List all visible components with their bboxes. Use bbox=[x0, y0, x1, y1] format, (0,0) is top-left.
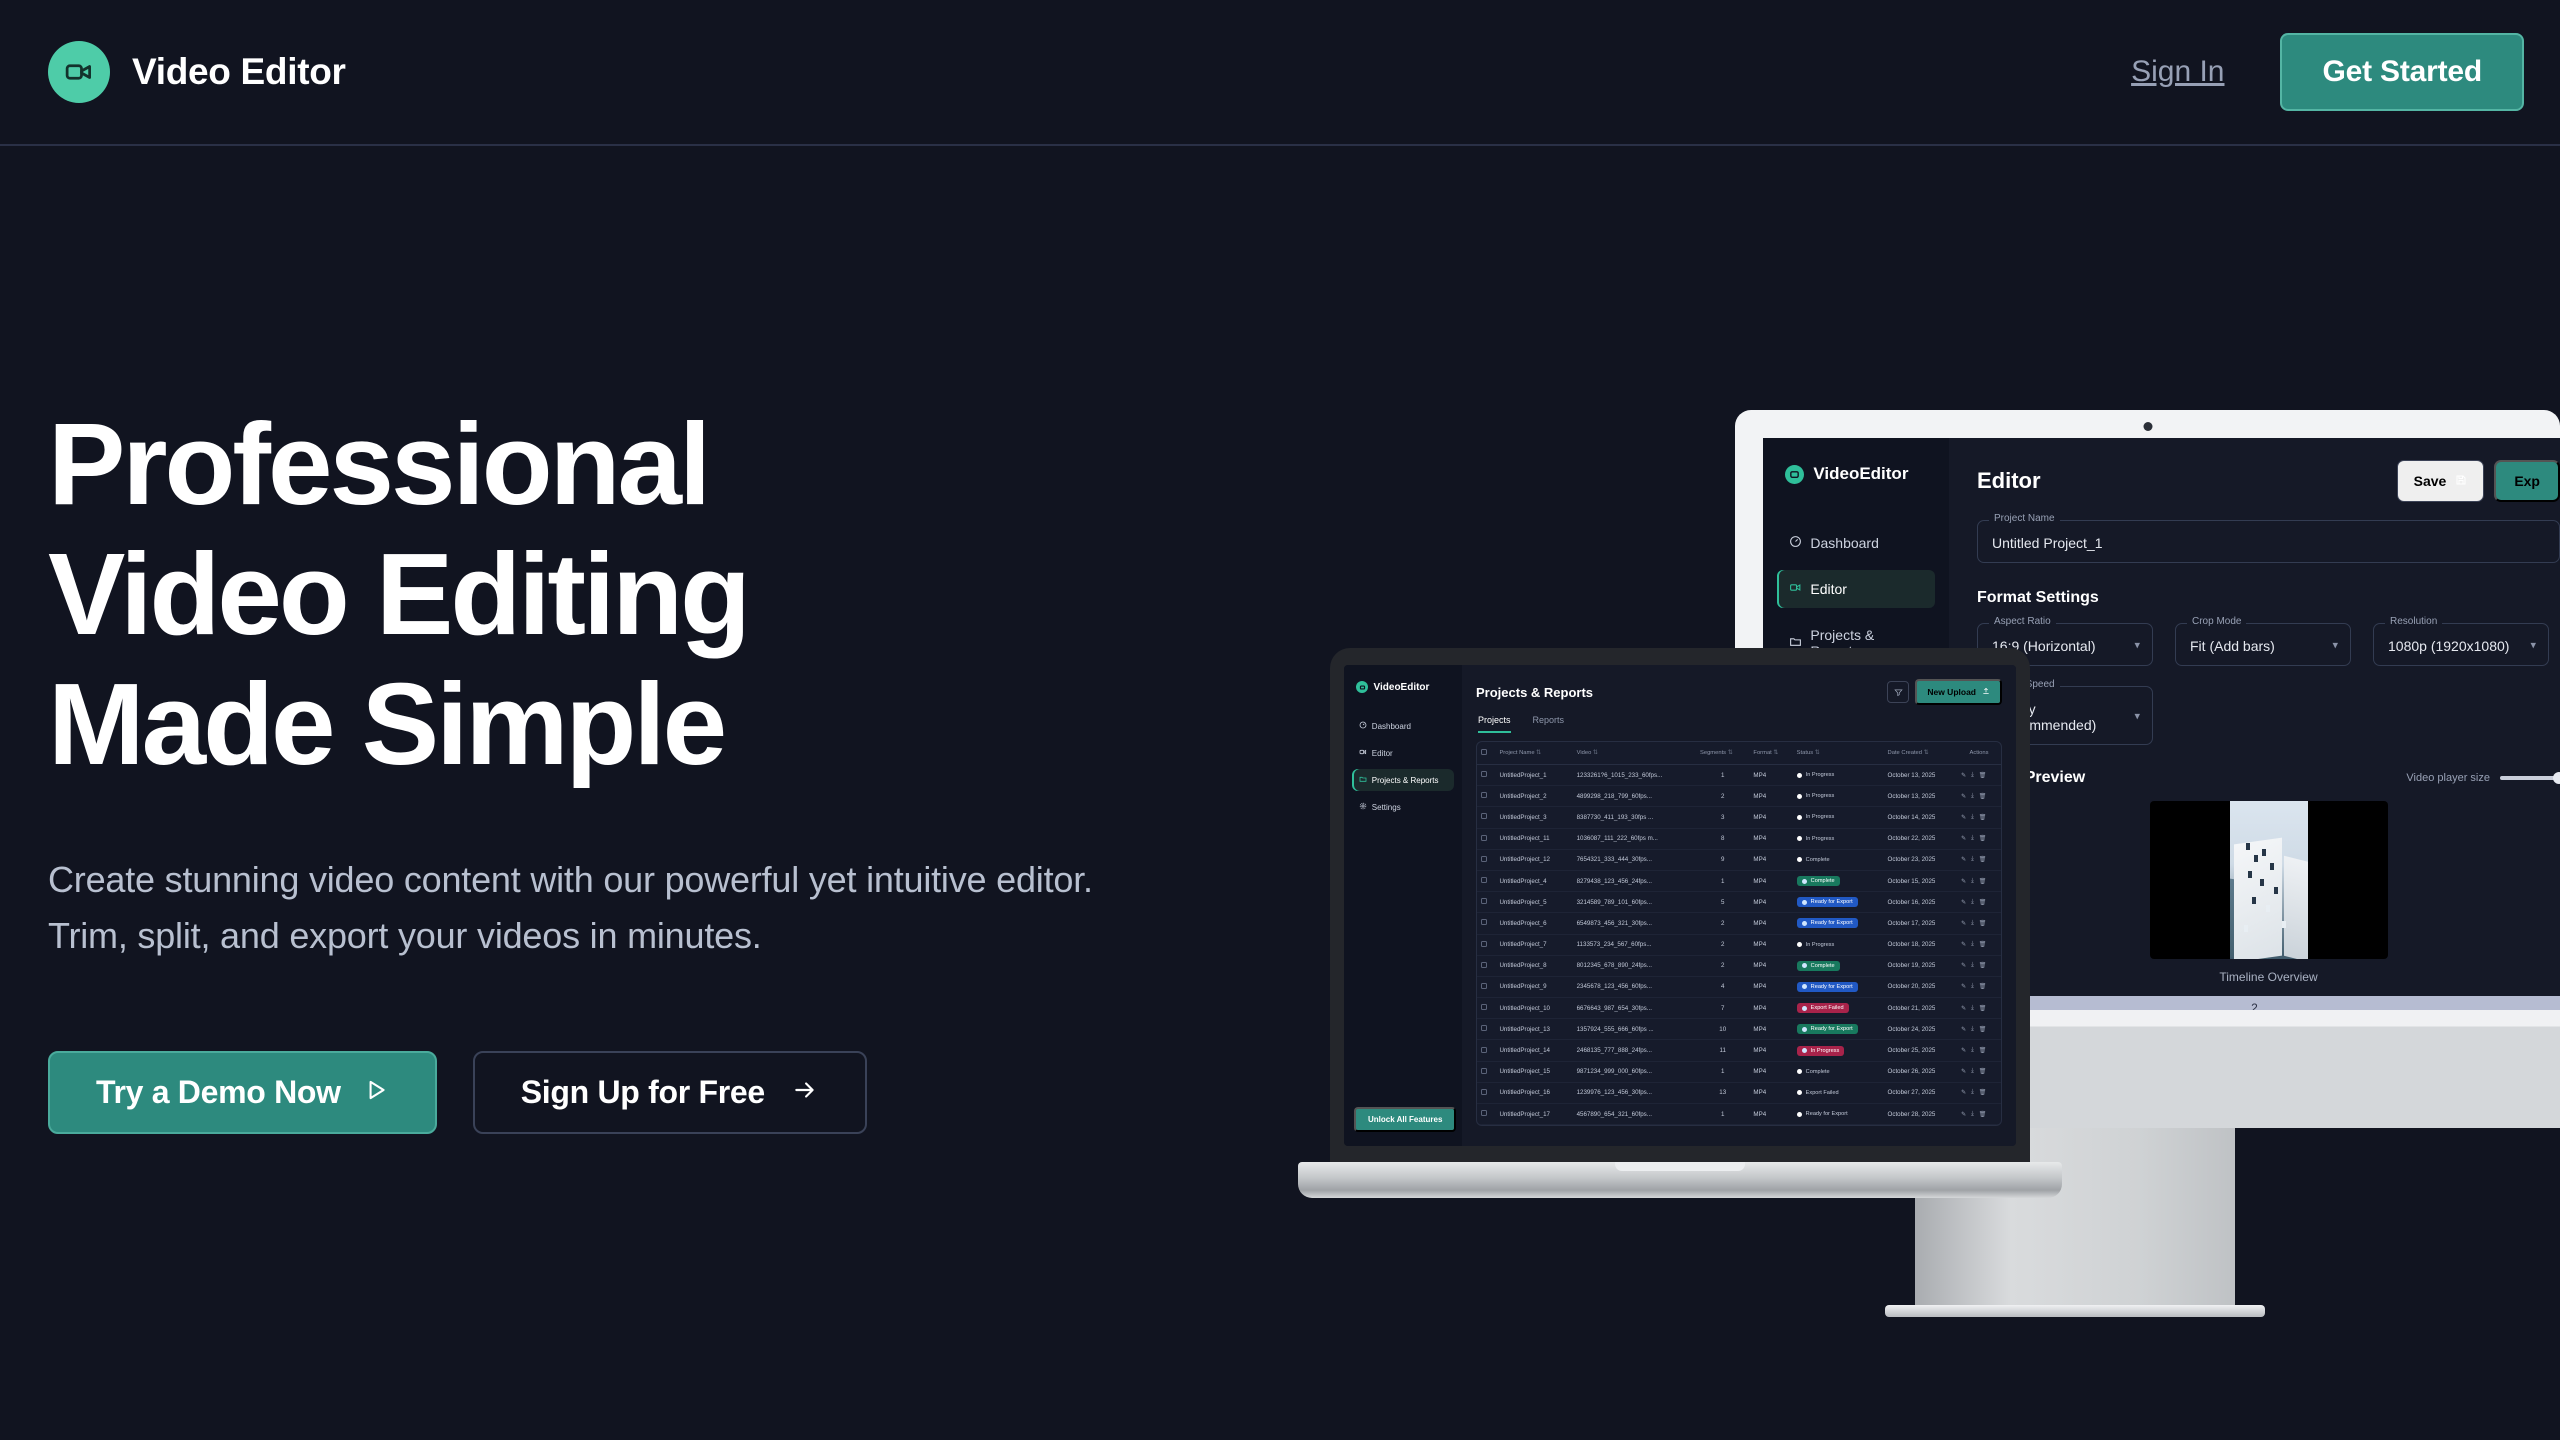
row-checkbox[interactable] bbox=[1481, 877, 1487, 883]
row-checkbox-cell[interactable] bbox=[1477, 786, 1495, 807]
table-row[interactable]: UntitledProject_131357924_555_666_60fps … bbox=[1477, 1019, 2001, 1040]
video-player[interactable] bbox=[2150, 801, 2388, 959]
select-all-checkbox[interactable] bbox=[1481, 749, 1487, 755]
project-name-field[interactable]: Project Name Untitled Project_1 bbox=[1977, 520, 2560, 563]
cell-video: 4899298_218_799_60fps... bbox=[1573, 786, 1696, 807]
delete-icon[interactable]: 🗑 bbox=[1979, 1089, 1987, 1096]
editor-header: Editor Save Exp bbox=[1949, 438, 2560, 502]
cell-video: 1239976_123_456_30fps... bbox=[1573, 1082, 1696, 1103]
cell-actions: ✎⤓🗑 bbox=[1957, 892, 2001, 913]
cell-segments: 8 bbox=[1696, 828, 1749, 849]
hero-cta-group: Try a Demo Now Sign Up for Free bbox=[48, 1051, 1148, 1134]
column-header[interactable]: Date Created ⇅ bbox=[1884, 742, 1958, 765]
resolution-label: Resolution bbox=[2385, 616, 2442, 627]
status-badge: Ready for Export bbox=[1797, 918, 1858, 928]
row-checkbox[interactable] bbox=[1481, 813, 1487, 819]
column-header[interactable]: Segments ⇅ bbox=[1696, 742, 1749, 765]
projects-table-wrapper: Project Name ⇅Video ⇅Segments ⇅Format ⇅S… bbox=[1476, 741, 2002, 1126]
row-checkbox[interactable] bbox=[1481, 771, 1487, 777]
row-checkbox[interactable] bbox=[1481, 835, 1487, 841]
edit-icon[interactable]: ✎ bbox=[1961, 1068, 1966, 1075]
status-badge: In Progress bbox=[1797, 791, 1840, 801]
laptop-screen: VideoEditor Dashboard bbox=[1344, 665, 2016, 1146]
row-checkbox[interactable] bbox=[1481, 1110, 1487, 1116]
cell-actions: ✎⤓🗑 bbox=[1957, 913, 2001, 934]
row-checkbox[interactable] bbox=[1481, 792, 1487, 798]
sidebar-item-dashboard[interactable]: Dashboard bbox=[1777, 524, 1935, 562]
delete-icon[interactable]: 🗑 bbox=[1979, 1068, 1987, 1075]
cell-format: MP4 bbox=[1749, 955, 1792, 976]
hero-title-line-2: Video Editing bbox=[48, 529, 748, 659]
cell-project-name: UntitledProject_4 bbox=[1495, 870, 1572, 891]
table-row[interactable]: UntitledProject_53214589_789_101_60fps..… bbox=[1477, 892, 2001, 913]
video-camera-icon bbox=[48, 41, 110, 103]
cell-segments: 4 bbox=[1696, 976, 1749, 997]
app-logo-text: VideoEditor bbox=[1813, 464, 1908, 484]
download-icon[interactable]: ⤓ bbox=[1971, 1005, 1974, 1012]
row-checkbox[interactable] bbox=[1481, 1068, 1487, 1074]
cell-project-name: UntitledProject_11 bbox=[1495, 828, 1572, 849]
cell-status: In Progress bbox=[1793, 765, 1884, 786]
cell-format: MP4 bbox=[1749, 1082, 1792, 1103]
download-icon[interactable]: ⤓ bbox=[1971, 941, 1974, 948]
sign-up-free-button[interactable]: Sign Up for Free bbox=[473, 1051, 867, 1134]
row-checkbox-cell[interactable] bbox=[1477, 1082, 1495, 1103]
site-header: Video Editor Sign In Get Started bbox=[0, 0, 2560, 146]
cell-segments: 5 bbox=[1696, 892, 1749, 913]
cell-actions: ✎⤓🗑 bbox=[1957, 955, 2001, 976]
download-icon[interactable]: ⤓ bbox=[1971, 1047, 1974, 1054]
cell-video: 1133573_234_567_60fps... bbox=[1573, 934, 1696, 955]
cell-project-name: UntitledProject_15 bbox=[1495, 1061, 1572, 1082]
cell-date-created: October 13, 2025 bbox=[1884, 765, 1958, 786]
delete-icon[interactable]: 🗑 bbox=[1979, 793, 1987, 800]
cell-actions: ✎⤓🗑 bbox=[1957, 828, 2001, 849]
row-checkbox-cell[interactable] bbox=[1477, 998, 1495, 1019]
product-mockups: VideoEditor Dashboard Editor bbox=[1330, 380, 2560, 1240]
webcam-icon bbox=[2143, 422, 2152, 431]
edit-icon[interactable]: ✎ bbox=[1961, 793, 1966, 800]
cell-project-name: UntitledProject_9 bbox=[1495, 976, 1572, 997]
sidebar-item-label: Settings bbox=[1372, 803, 1401, 812]
app-logo[interactable]: VideoEditor bbox=[1785, 464, 1949, 484]
edit-icon[interactable]: ✎ bbox=[1961, 835, 1966, 842]
row-checkbox[interactable] bbox=[1481, 1004, 1487, 1010]
row-checkbox[interactable] bbox=[1481, 1089, 1487, 1095]
cell-format: MP4 bbox=[1749, 976, 1792, 997]
row-checkbox-cell[interactable] bbox=[1477, 807, 1495, 828]
cell-video: 6676643_987_654_30fps... bbox=[1573, 998, 1696, 1019]
cell-video: 1036087_111_222_60fps m... bbox=[1573, 828, 1696, 849]
sort-icon[interactable]: ⇅ bbox=[1728, 750, 1733, 756]
row-checkbox-cell[interactable] bbox=[1477, 765, 1495, 786]
cell-project-name: UntitledProject_5 bbox=[1495, 892, 1572, 913]
delete-icon[interactable]: 🗑 bbox=[1979, 814, 1987, 821]
tab-projects[interactable]: Projects bbox=[1478, 715, 1511, 733]
get-started-button[interactable]: Get Started bbox=[2280, 33, 2524, 111]
cell-format: MP4 bbox=[1749, 828, 1792, 849]
table-row[interactable]: UntitledProject_38387730_411_193_30fps .… bbox=[1477, 807, 2001, 828]
try-demo-button[interactable]: Try a Demo Now bbox=[48, 1051, 437, 1134]
delete-icon[interactable]: 🗑 bbox=[1979, 899, 1987, 906]
cell-actions: ✎⤓🗑 bbox=[1957, 1040, 2001, 1061]
hero-subtitle: Create stunning video content with our p… bbox=[48, 852, 1108, 964]
app-logo[interactable]: VideoEditor bbox=[1356, 681, 1462, 693]
header-actions: Sign In Get Started bbox=[2131, 33, 2524, 111]
project-name-value: Untitled Project_1 bbox=[1992, 535, 2103, 551]
cell-format: MP4 bbox=[1749, 870, 1792, 891]
cell-project-name: UntitledProject_8 bbox=[1495, 955, 1572, 976]
video-camera-icon bbox=[1785, 465, 1804, 484]
sidebar-item-label: Editor bbox=[1810, 581, 1847, 597]
cell-project-name: UntitledProject_16 bbox=[1495, 1082, 1572, 1103]
cell-status: Ready for Export bbox=[1793, 1019, 1884, 1040]
download-icon[interactable]: ⤓ bbox=[1971, 983, 1974, 990]
cell-actions: ✎⤓🗑 bbox=[1957, 870, 2001, 891]
sidebar-item-editor[interactable]: Editor bbox=[1352, 742, 1454, 764]
cell-video: 8012345_678_890_24fps... bbox=[1573, 955, 1696, 976]
filter-icon[interactable] bbox=[1887, 681, 1909, 703]
cell-video: 6549873_456_321_30fps... bbox=[1573, 913, 1696, 934]
cell-status: Complete bbox=[1793, 955, 1884, 976]
status-badge: Complete bbox=[1797, 876, 1840, 886]
download-icon[interactable]: ⤓ bbox=[1971, 1068, 1974, 1075]
delete-icon[interactable]: 🗑 bbox=[1979, 941, 1987, 948]
sidebar-item-projects-reports[interactable]: Projects & Reports bbox=[1352, 769, 1454, 791]
table-row[interactable]: UntitledProject_106676643_987_654_30fps.… bbox=[1477, 998, 2001, 1019]
delete-icon[interactable]: 🗑 bbox=[1979, 962, 1987, 969]
video-preview-area: Timeline Overview bbox=[1977, 801, 2560, 984]
sort-icon[interactable]: ⇅ bbox=[1815, 750, 1820, 756]
editor-header-actions: Save Exp bbox=[2397, 460, 2560, 502]
gauge-icon bbox=[1789, 535, 1802, 551]
cell-actions: ✎⤓🗑 bbox=[1957, 976, 2001, 997]
cell-segments: 1 bbox=[1696, 1104, 1749, 1125]
laptop-mockup: VideoEditor Dashboard bbox=[1330, 648, 2030, 1168]
format-settings-title: Format Settings bbox=[1977, 589, 2560, 607]
cell-video: 1233261?6_1015_233_60fps... bbox=[1573, 765, 1696, 786]
edit-icon[interactable]: ✎ bbox=[1961, 814, 1966, 821]
cell-segments: 1 bbox=[1696, 765, 1749, 786]
projects-header: Projects & Reports New Upload bbox=[1462, 665, 2016, 705]
delete-icon[interactable]: 🗑 bbox=[1979, 983, 1987, 990]
cell-date-created: October 13, 2025 bbox=[1884, 786, 1958, 807]
resolution-value: 1080p (1920x1080) bbox=[2388, 638, 2509, 654]
cell-status: In Progress bbox=[1793, 828, 1884, 849]
edit-icon[interactable]: ✎ bbox=[1961, 941, 1966, 948]
cell-format: MP4 bbox=[1749, 892, 1792, 913]
table-row[interactable]: UntitledProject_111036087_111_222_60fps … bbox=[1477, 828, 2001, 849]
cell-status: In Progress bbox=[1793, 786, 1884, 807]
table-row[interactable]: UntitledProject_66549873_456_321_30fps..… bbox=[1477, 913, 2001, 934]
edit-icon[interactable]: ✎ bbox=[1961, 1005, 1966, 1012]
cell-project-name: UntitledProject_1 bbox=[1495, 765, 1572, 786]
table-row[interactable]: UntitledProject_174567890_654_321_60fps.… bbox=[1477, 1104, 2001, 1125]
save-label: Save bbox=[2414, 473, 2447, 489]
export-button: Exp bbox=[2494, 460, 2560, 502]
row-checkbox-cell[interactable] bbox=[1477, 1104, 1495, 1125]
table-row[interactable]: UntitledProject_159871234_999_000_60fps.… bbox=[1477, 1061, 2001, 1082]
column-header[interactable] bbox=[1477, 742, 1495, 765]
upload-icon bbox=[1982, 687, 1990, 697]
edit-icon[interactable]: ✎ bbox=[1961, 1089, 1966, 1096]
column-header[interactable]: Video ⇅ bbox=[1573, 742, 1696, 765]
download-icon[interactable]: ⤓ bbox=[1971, 1111, 1974, 1118]
row-checkbox[interactable] bbox=[1481, 1047, 1487, 1053]
unlock-all-features-button[interactable]: Unlock All Features bbox=[1354, 1107, 1456, 1132]
video-camera-icon bbox=[1359, 748, 1367, 758]
row-checkbox-cell[interactable] bbox=[1477, 1061, 1495, 1082]
hero-title-line-1: Professional bbox=[48, 399, 708, 529]
download-icon[interactable]: ⤓ bbox=[1971, 920, 1974, 927]
new-upload-button[interactable]: New Upload bbox=[1915, 679, 2002, 705]
row-checkbox[interactable] bbox=[1481, 983, 1487, 989]
table-row[interactable]: UntitledProject_71133573_234_567_60fps..… bbox=[1477, 934, 2001, 955]
edit-icon[interactable]: ✎ bbox=[1961, 899, 1966, 906]
delete-icon[interactable]: 🗑 bbox=[1979, 1047, 1987, 1054]
delete-icon[interactable]: 🗑 bbox=[1979, 1111, 1987, 1118]
projects-tabs: Projects Reports bbox=[1462, 705, 2016, 733]
delete-icon[interactable]: 🗑 bbox=[1979, 878, 1987, 885]
download-icon[interactable]: ⤓ bbox=[1971, 1026, 1974, 1033]
cell-video: 2468135_777_888_24fps... bbox=[1573, 1040, 1696, 1061]
video-player-size-control[interactable]: Video player size bbox=[2406, 772, 2560, 784]
row-checkbox[interactable] bbox=[1481, 856, 1487, 862]
floppy-disk-icon bbox=[2455, 473, 2467, 489]
row-checkbox-cell[interactable] bbox=[1477, 913, 1495, 934]
column-header[interactable]: Status ⇅ bbox=[1793, 742, 1884, 765]
table-row[interactable]: UntitledProject_88012345_678_890_24fps..… bbox=[1477, 955, 2001, 976]
edit-icon[interactable]: ✎ bbox=[1961, 983, 1966, 990]
cell-segments: 9 bbox=[1696, 849, 1749, 870]
cell-actions: ✎⤓🗑 bbox=[1957, 1019, 2001, 1040]
cell-date-created: October 26, 2025 bbox=[1884, 1061, 1958, 1082]
cell-format: MP4 bbox=[1749, 1040, 1792, 1061]
app-logo-text: VideoEditor bbox=[1374, 682, 1430, 693]
cell-actions: ✎⤓🗑 bbox=[1957, 1082, 2001, 1103]
cell-format: MP4 bbox=[1749, 807, 1792, 828]
cell-format: MP4 bbox=[1749, 1019, 1792, 1040]
video-camera-icon bbox=[1356, 681, 1368, 693]
table-row[interactable]: UntitledProject_48279438_123_456_24fps..… bbox=[1477, 870, 2001, 891]
status-badge: Ready for Export bbox=[1797, 1024, 1858, 1034]
laptop-base-notch bbox=[1615, 1162, 1745, 1171]
sign-in-link[interactable]: Sign In bbox=[2131, 55, 2224, 89]
status-badge: Complete bbox=[1797, 855, 1835, 865]
cell-date-created: October 24, 2025 bbox=[1884, 1019, 1958, 1040]
chevron-down-icon: ▾ bbox=[2332, 638, 2338, 651]
download-icon[interactable]: ⤓ bbox=[1971, 856, 1974, 863]
timeline-bar[interactable]: 2 bbox=[1949, 996, 2560, 1010]
row-checkbox[interactable] bbox=[1481, 941, 1487, 947]
edit-icon[interactable]: ✎ bbox=[1961, 962, 1966, 969]
cell-segments: 2 bbox=[1696, 955, 1749, 976]
cell-status: Complete bbox=[1793, 870, 1884, 891]
folder-icon bbox=[1359, 775, 1367, 785]
tab-reports[interactable]: Reports bbox=[1533, 715, 1565, 733]
chevron-down-icon: ▾ bbox=[2530, 638, 2536, 651]
status-badge: Ready for Export bbox=[1797, 1109, 1853, 1119]
row-checkbox[interactable] bbox=[1481, 919, 1487, 925]
sidebar-item-label: Editor bbox=[1372, 749, 1393, 758]
cell-project-name: UntitledProject_2 bbox=[1495, 786, 1572, 807]
table-header-row: Project Name ⇅Video ⇅Segments ⇅Format ⇅S… bbox=[1477, 742, 2001, 765]
sort-icon[interactable]: ⇅ bbox=[1593, 750, 1598, 756]
page-title: Professional Video Editing Made Simple bbox=[48, 400, 1148, 790]
table-row[interactable]: UntitledProject_142468135_777_888_24fps.… bbox=[1477, 1040, 2001, 1061]
edit-icon[interactable]: ✎ bbox=[1961, 878, 1966, 885]
status-badge: In Progress bbox=[1797, 834, 1840, 844]
row-checkbox[interactable] bbox=[1481, 1025, 1487, 1031]
cell-segments: 11 bbox=[1696, 1040, 1749, 1061]
gear-icon bbox=[1359, 802, 1367, 812]
status-badge: Complete bbox=[1797, 1067, 1835, 1077]
status-badge: Export Failed bbox=[1797, 1088, 1844, 1098]
monitor-foot bbox=[1885, 1305, 2265, 1317]
cell-actions: ✎⤓🗑 bbox=[1957, 1061, 2001, 1082]
row-checkbox-cell[interactable] bbox=[1477, 892, 1495, 913]
download-icon[interactable]: ⤓ bbox=[1971, 878, 1974, 885]
column-header[interactable]: Format ⇅ bbox=[1749, 742, 1792, 765]
cell-date-created: October 23, 2025 bbox=[1884, 849, 1958, 870]
cell-format: MP4 bbox=[1749, 934, 1792, 955]
editor-page-title: Editor bbox=[1977, 468, 2041, 494]
cell-date-created: October 17, 2025 bbox=[1884, 913, 1958, 934]
status-badge: Ready for Export bbox=[1797, 897, 1858, 907]
cell-date-created: October 16, 2025 bbox=[1884, 892, 1958, 913]
sign-up-label: Sign Up for Free bbox=[521, 1074, 765, 1111]
cell-format: MP4 bbox=[1749, 1061, 1792, 1082]
download-icon[interactable]: ⤓ bbox=[1971, 814, 1974, 821]
download-icon[interactable]: ⤓ bbox=[1971, 772, 1974, 779]
row-checkbox[interactable] bbox=[1481, 898, 1487, 904]
edit-icon[interactable]: ✎ bbox=[1961, 1026, 1966, 1033]
row-checkbox-cell[interactable] bbox=[1477, 849, 1495, 870]
row-checkbox-cell[interactable] bbox=[1477, 1019, 1495, 1040]
cell-status: Ready for Export bbox=[1793, 976, 1884, 997]
cell-status: In Progress bbox=[1793, 934, 1884, 955]
cell-format: MP4 bbox=[1749, 913, 1792, 934]
format-settings-row: Aspect Ratio 16:9 (Horizontal) ▾ Crop Mo… bbox=[1977, 623, 2560, 666]
sidebar-item-settings[interactable]: Settings bbox=[1352, 796, 1454, 818]
projects-header-actions: New Upload bbox=[1887, 679, 2002, 705]
table-row[interactable]: UntitledProject_92345678_123_456_60fps..… bbox=[1477, 976, 2001, 997]
cell-status: In Progress bbox=[1793, 807, 1884, 828]
sidebar-item-label: Projects & Reports bbox=[1372, 776, 1439, 785]
cell-actions: ✎⤓🗑 bbox=[1957, 1104, 2001, 1125]
edit-icon[interactable]: ✎ bbox=[1961, 772, 1966, 779]
edit-icon[interactable]: ✎ bbox=[1961, 1047, 1966, 1054]
status-badge: In Progress bbox=[1797, 1046, 1845, 1056]
cell-actions: ✎⤓🗑 bbox=[1957, 786, 2001, 807]
resolution-select[interactable]: Resolution 1080p (1920x1080) ▾ bbox=[2373, 623, 2549, 666]
cell-format: MP4 bbox=[1749, 786, 1792, 807]
delete-icon[interactable]: 🗑 bbox=[1979, 920, 1987, 927]
cell-status: Ready for Export bbox=[1793, 913, 1884, 934]
download-icon[interactable]: ⤓ bbox=[1971, 1089, 1974, 1096]
cell-segments: 2 bbox=[1696, 934, 1749, 955]
hero-section: Professional Video Editing Made Simple C… bbox=[48, 400, 1148, 1134]
cell-date-created: October 27, 2025 bbox=[1884, 1082, 1958, 1103]
cell-segments: 2 bbox=[1696, 786, 1749, 807]
download-icon[interactable]: ⤓ bbox=[1971, 899, 1974, 906]
cell-date-created: October 14, 2025 bbox=[1884, 807, 1958, 828]
delete-icon[interactable]: 🗑 bbox=[1979, 772, 1987, 779]
delete-icon[interactable]: 🗑 bbox=[1979, 856, 1987, 863]
row-checkbox-cell[interactable] bbox=[1477, 1040, 1495, 1061]
row-checkbox-cell[interactable] bbox=[1477, 828, 1495, 849]
row-checkbox-cell[interactable] bbox=[1477, 955, 1495, 976]
table-body: UntitledProject_11233261?6_1015_233_60fp… bbox=[1477, 765, 2001, 1125]
laptop-lid: VideoEditor Dashboard bbox=[1330, 648, 2030, 1168]
projects-nav: Dashboard Editor Projects bbox=[1344, 715, 1462, 818]
delete-icon[interactable]: 🗑 bbox=[1979, 1026, 1987, 1033]
delete-icon[interactable]: 🗑 bbox=[1979, 835, 1987, 842]
aspect-ratio-label: Aspect Ratio bbox=[1989, 616, 2056, 627]
chevron-down-icon: ▾ bbox=[2134, 638, 2140, 651]
column-header[interactable]: Project Name ⇅ bbox=[1495, 742, 1572, 765]
cell-video: 8279438_123_456_24fps... bbox=[1573, 870, 1696, 891]
table-row[interactable]: UntitledProject_161239976_123_456_30fps.… bbox=[1477, 1082, 2001, 1103]
player-size-slider[interactable] bbox=[2500, 776, 2560, 780]
cell-date-created: October 15, 2025 bbox=[1884, 870, 1958, 891]
table-row[interactable]: UntitledProject_24899298_218_799_60fps..… bbox=[1477, 786, 2001, 807]
edit-icon[interactable]: ✎ bbox=[1961, 920, 1966, 927]
sidebar-item-editor[interactable]: Editor bbox=[1777, 570, 1935, 608]
chevron-down-icon: ▾ bbox=[2134, 709, 2140, 722]
project-name-label: Project Name bbox=[1989, 513, 2060, 524]
video-preview-header: Video Preview Video player size bbox=[1977, 769, 2560, 787]
save-button[interactable]: Save bbox=[2397, 460, 2485, 502]
cell-segments: 13 bbox=[1696, 1082, 1749, 1103]
cell-video: 9871234_999_000_60fps... bbox=[1573, 1061, 1696, 1082]
row-checkbox-cell[interactable] bbox=[1477, 976, 1495, 997]
brand-logo[interactable]: Video Editor bbox=[48, 41, 346, 103]
sort-icon[interactable]: ⇅ bbox=[1924, 750, 1929, 756]
cell-format: MP4 bbox=[1749, 765, 1792, 786]
row-checkbox-cell[interactable] bbox=[1477, 934, 1495, 955]
cell-actions: ✎⤓🗑 bbox=[1957, 849, 2001, 870]
cell-status: Ready for Export bbox=[1793, 892, 1884, 913]
download-icon[interactable]: ⤓ bbox=[1971, 835, 1974, 842]
column-header[interactable]: Actions bbox=[1957, 742, 2001, 765]
table-row[interactable]: UntitledProject_127654321_333_444_30fps.… bbox=[1477, 849, 2001, 870]
table-row[interactable]: UntitledProject_11233261?6_1015_233_60fp… bbox=[1477, 765, 2001, 786]
sort-icon[interactable]: ⇅ bbox=[1773, 750, 1778, 756]
editor-main: Editor Save Exp Project Name bbox=[1949, 438, 2560, 1010]
download-icon[interactable]: ⤓ bbox=[1971, 793, 1974, 800]
cell-project-name: UntitledProject_6 bbox=[1495, 913, 1572, 934]
crop-mode-select[interactable]: Crop Mode Fit (Add bars) ▾ bbox=[2175, 623, 2351, 666]
download-icon[interactable]: ⤓ bbox=[1971, 962, 1974, 969]
edit-icon[interactable]: ✎ bbox=[1961, 856, 1966, 863]
sidebar-item-label: Dashboard bbox=[1810, 535, 1879, 551]
cell-status: In Progress bbox=[1793, 1040, 1884, 1061]
cell-project-name: UntitledProject_7 bbox=[1495, 934, 1572, 955]
cell-date-created: October 22, 2025 bbox=[1884, 828, 1958, 849]
crop-mode-value: Fit (Add bars) bbox=[2190, 638, 2275, 654]
edit-icon[interactable]: ✎ bbox=[1961, 1111, 1966, 1118]
row-checkbox-cell[interactable] bbox=[1477, 870, 1495, 891]
cell-video: 2345678_123_456_60fps... bbox=[1573, 976, 1696, 997]
sidebar-item-dashboard[interactable]: Dashboard bbox=[1352, 715, 1454, 737]
delete-icon[interactable]: 🗑 bbox=[1979, 1005, 1987, 1012]
row-checkbox[interactable] bbox=[1481, 962, 1487, 968]
sort-icon[interactable]: ⇅ bbox=[1536, 750, 1541, 756]
cell-actions: ✎⤓🗑 bbox=[1957, 807, 2001, 828]
cell-date-created: October 18, 2025 bbox=[1884, 934, 1958, 955]
cell-project-name: UntitledProject_13 bbox=[1495, 1019, 1572, 1040]
